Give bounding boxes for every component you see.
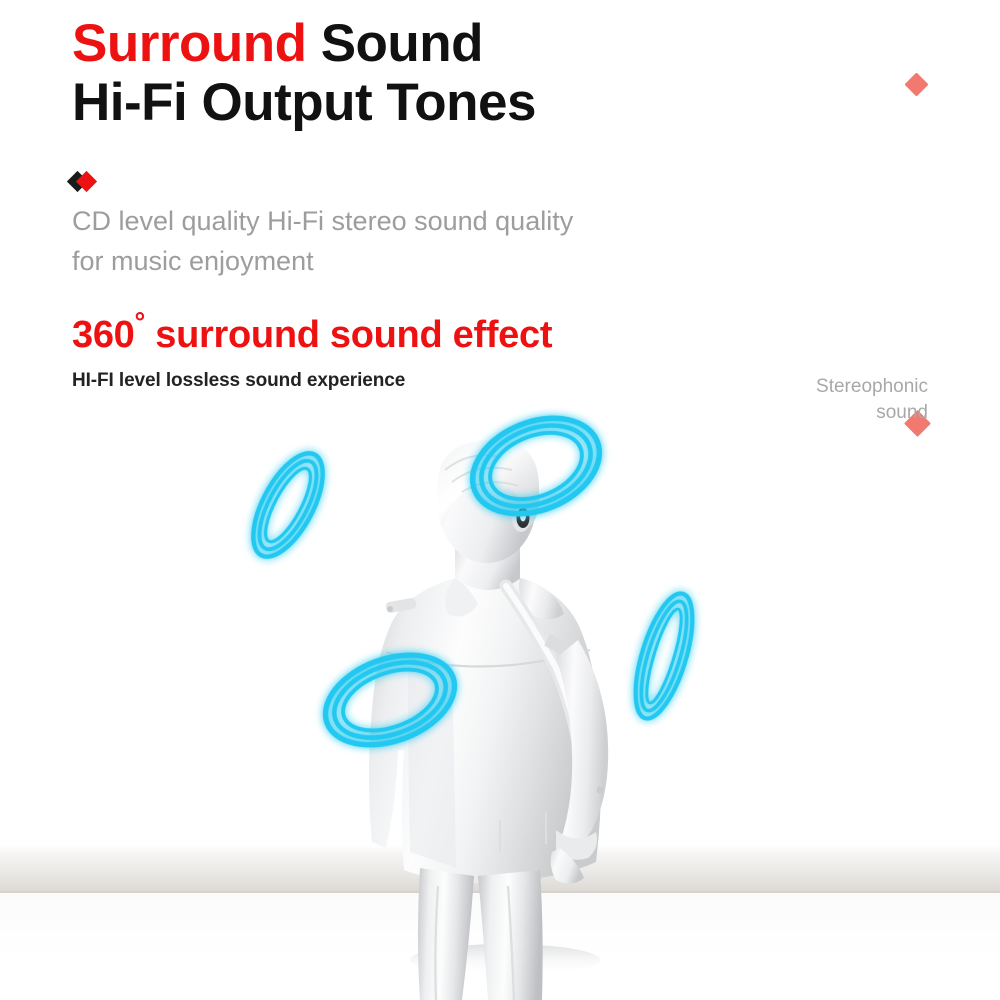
sleeve-button-icon — [597, 787, 604, 794]
stereo-label-line-1: Stereophonic — [698, 374, 928, 400]
headline-line2: Hi-Fi Output Tones — [72, 73, 832, 132]
dual-diamond-bullet-icon — [70, 172, 104, 192]
section-title-rest: surround sound effect — [145, 314, 552, 356]
page-title: Surround Sound Hi-Fi Output Tones — [72, 14, 832, 133]
epaulette-button-icon — [387, 606, 393, 612]
jacket-back-panel — [408, 662, 456, 868]
figure-left-leg — [418, 868, 474, 1000]
degree-symbol-icon: ° — [135, 307, 146, 337]
section-title-number: 360 — [72, 314, 135, 356]
hero-scene — [0, 400, 1000, 1000]
earbud-highlight — [520, 511, 526, 522]
section-title: 360° surround sound effect — [72, 314, 552, 357]
promo-page: Surround Sound Hi-Fi Output Tones CD lev… — [0, 0, 1000, 1000]
accent-diamond-top-right-icon — [904, 72, 928, 96]
subtitle-line-1: CD level quality Hi-Fi stereo sound qual… — [72, 202, 772, 242]
subtitle: CD level quality Hi-Fi stereo sound qual… — [72, 202, 772, 282]
section-subtitle: HI-FI level lossless sound experience — [72, 370, 405, 392]
headline-highlight: Surround — [72, 14, 306, 73]
person-figure-illustration — [0, 400, 1000, 1000]
headline-rest: Sound — [306, 14, 483, 73]
subtitle-line-2: for music enjoyment — [72, 242, 772, 282]
